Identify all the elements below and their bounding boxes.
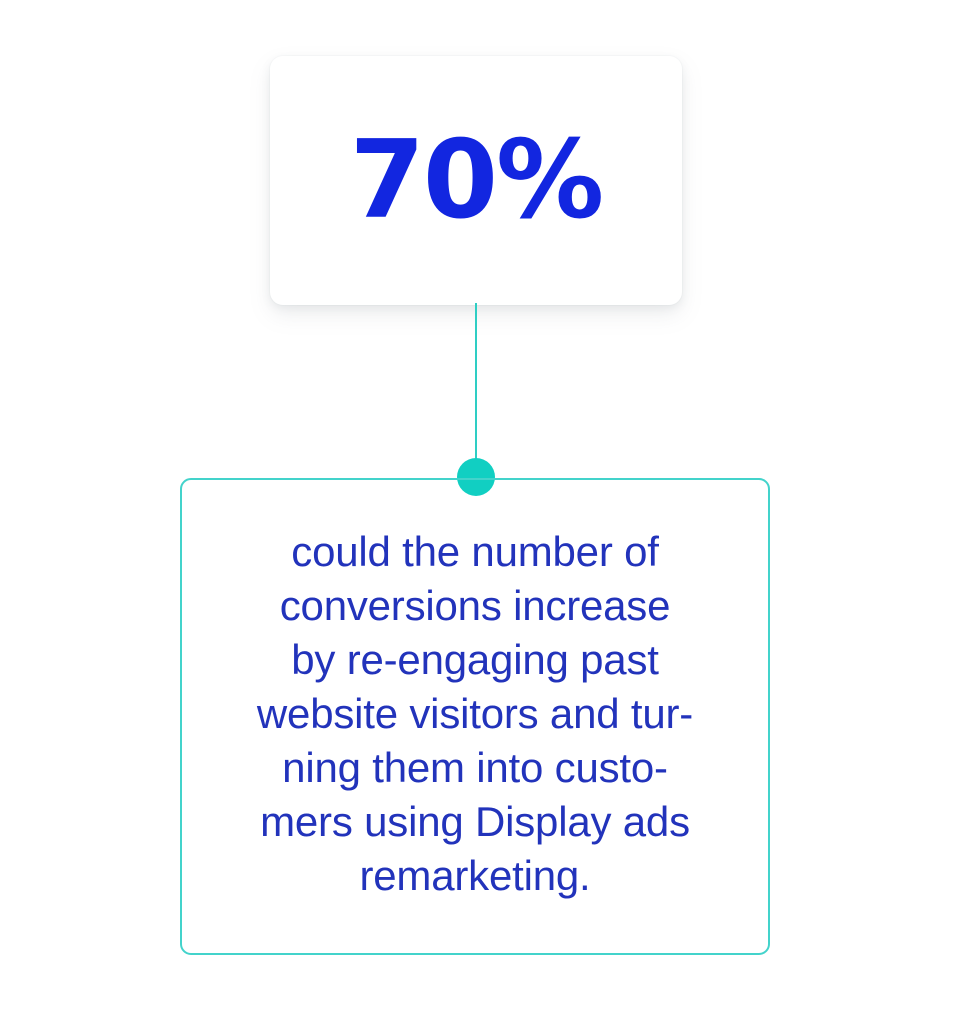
description-line: mers using Display ads (215, 795, 735, 849)
stat-card: 70% (270, 56, 682, 305)
description-line: could the number of (215, 525, 735, 579)
stat-value: 70% (350, 127, 603, 235)
description-text: could the number of conversions increase… (215, 525, 735, 903)
description-line: website visitors and tur- (215, 687, 735, 741)
infographic-root: 70% could the number of conversions incr… (0, 0, 953, 1024)
description-line: by re-engaging past (215, 633, 735, 687)
description-line: remarketing. (215, 849, 735, 903)
vertical-teal-connector-line (475, 303, 477, 478)
description-line: conversions increase (215, 579, 735, 633)
description-box: could the number of conversions increase… (180, 478, 770, 955)
description-line: ning them into custo- (215, 741, 735, 795)
